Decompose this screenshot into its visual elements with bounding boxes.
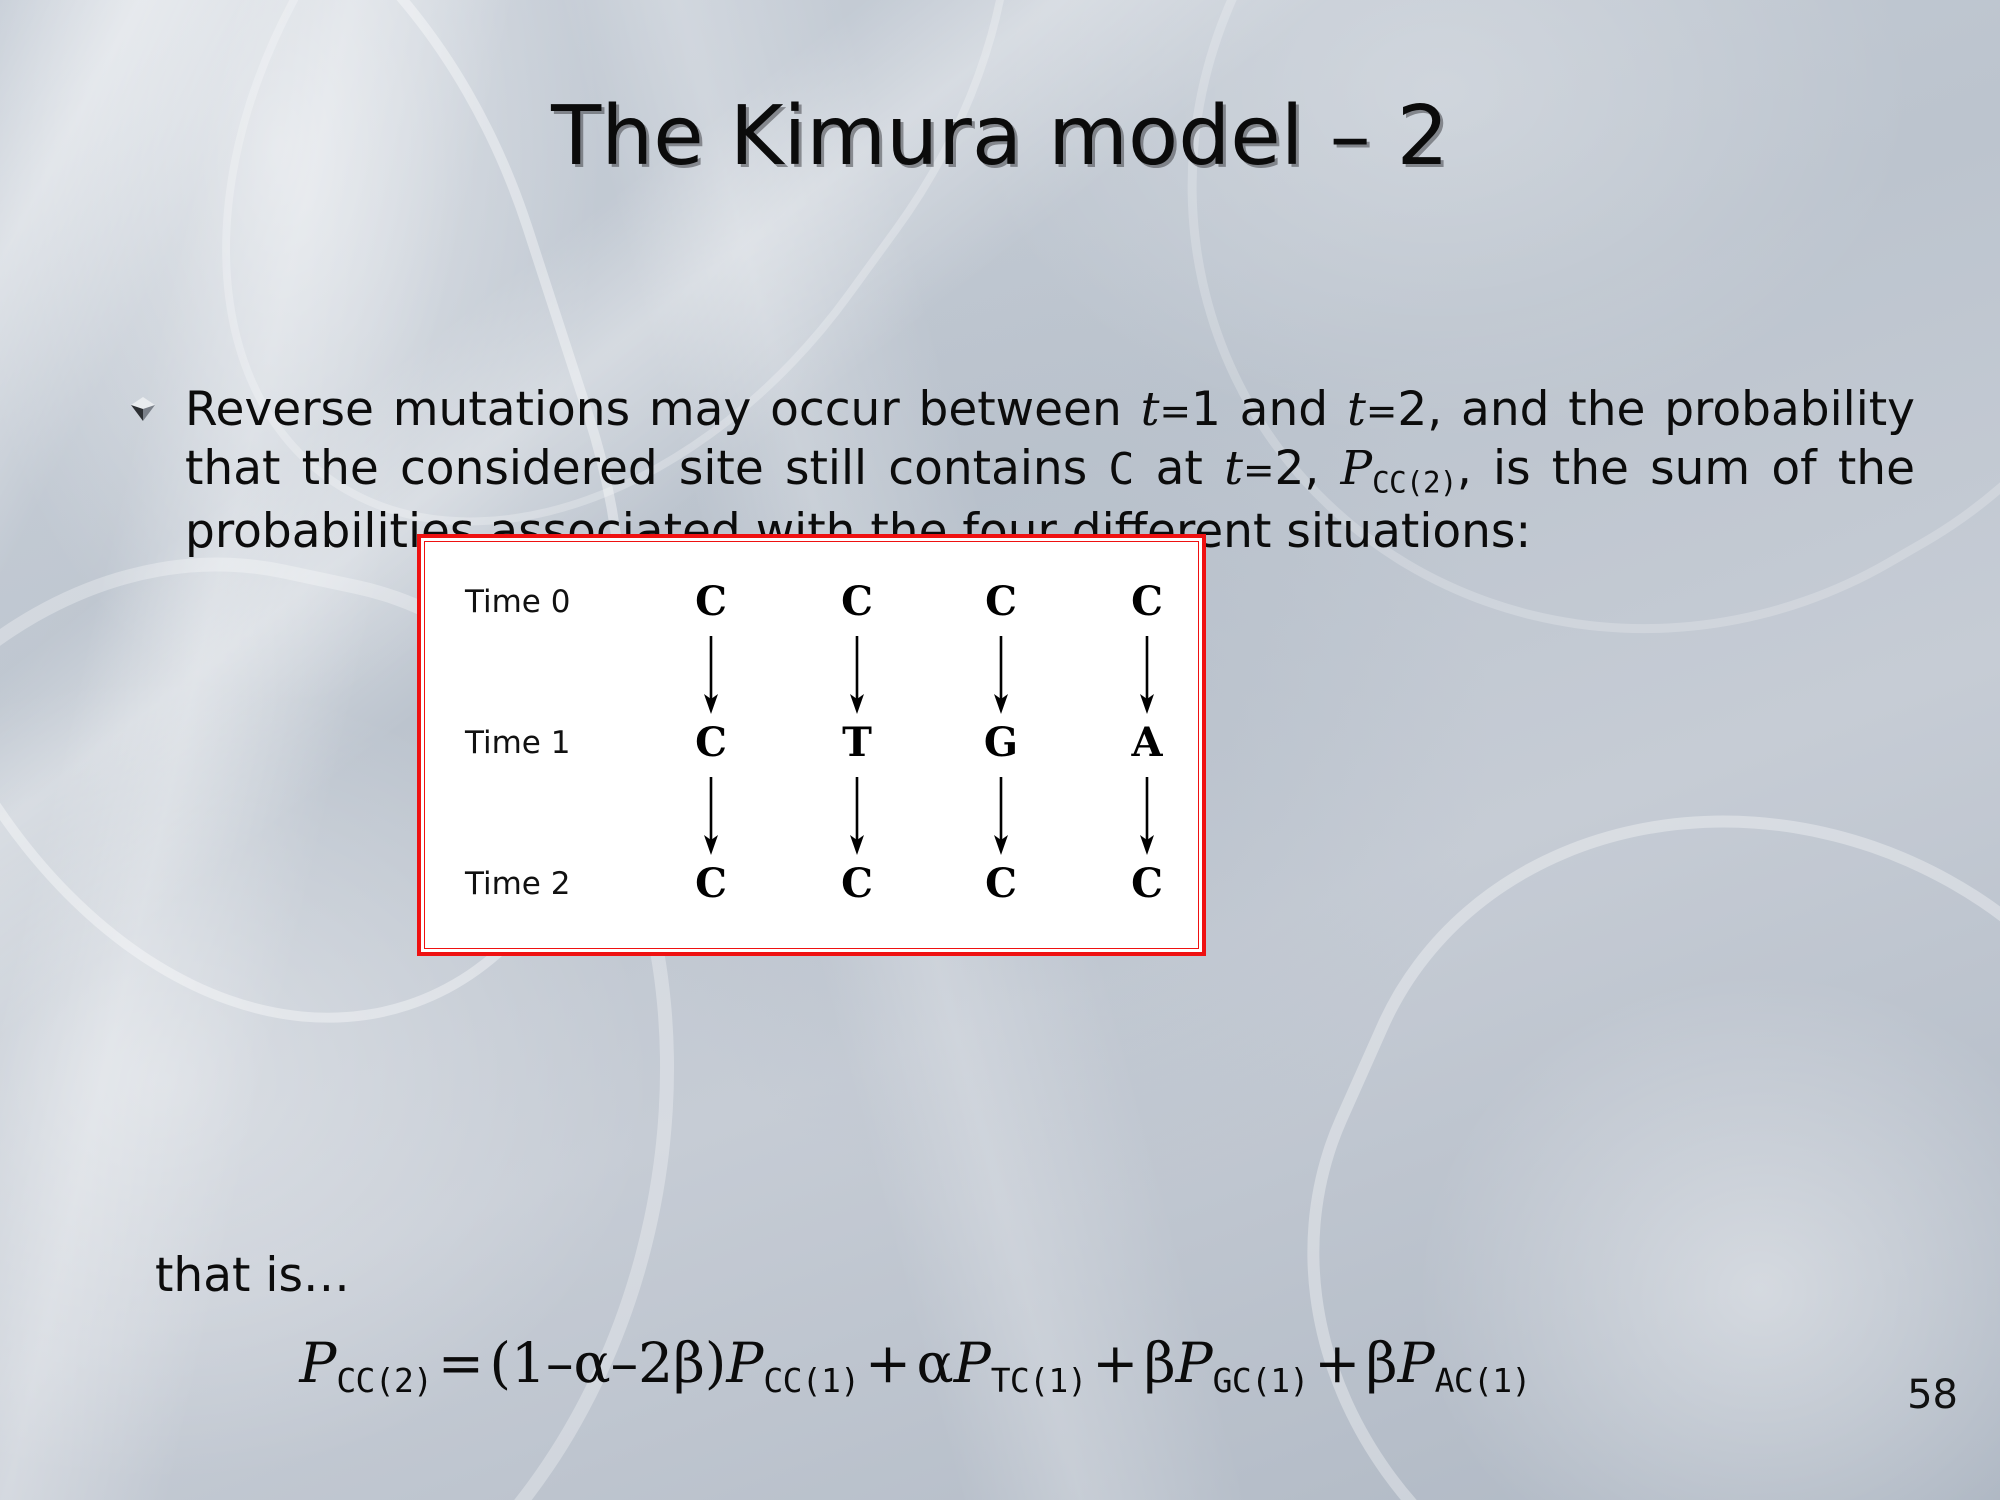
t-value-1: 1 xyxy=(1191,382,1221,437)
eq-close-paren: ) xyxy=(705,1331,726,1395)
base-col4-time2: C xyxy=(1124,860,1170,907)
t-value-2: 2 xyxy=(1397,382,1427,437)
t-equals-3: = xyxy=(1243,448,1275,492)
para-seg-4: at xyxy=(1134,441,1224,496)
base-col1-time2: C xyxy=(688,860,734,907)
down-arrow-col4-b xyxy=(1135,777,1159,855)
t-equals-1: = xyxy=(1159,389,1191,433)
eq-beta-3: β xyxy=(1366,1331,1398,1395)
eq-alpha-1: α xyxy=(573,1331,610,1395)
row-label-time-0: Time 0 xyxy=(465,584,570,620)
base-col3-time1: G xyxy=(978,719,1024,766)
eq-alpha-2: α xyxy=(917,1331,954,1395)
down-arrow-col2-b xyxy=(845,777,869,855)
t-equals-2: = xyxy=(1366,389,1398,433)
inline-base-c: C xyxy=(1108,445,1134,495)
t-value-3: 2 xyxy=(1274,441,1304,496)
eq-term1-sub: CC(1) xyxy=(763,1361,859,1400)
eq-minus-1: – xyxy=(546,1331,574,1395)
eq-lhs-p: P xyxy=(299,1331,336,1395)
dart-bullet-icon xyxy=(130,396,156,422)
page-title: The Kimura model – 2 xyxy=(0,96,2000,178)
eq-lhs-sub: CC(2) xyxy=(336,1361,432,1400)
eq-term1-p: P xyxy=(726,1331,763,1395)
p-symbol-inline: P xyxy=(1341,441,1373,496)
t-variable-1: t xyxy=(1141,382,1160,437)
base-col4-time1: A xyxy=(1124,719,1170,766)
base-col2-time0: C xyxy=(834,578,880,625)
p-subscript-inline: CC(2) xyxy=(1372,466,1457,500)
eq-term3-p: P xyxy=(1176,1331,1213,1395)
base-col4-time0: C xyxy=(1124,578,1170,625)
eq-one: 1 xyxy=(511,1331,546,1395)
para-seg-5: , xyxy=(1304,441,1340,496)
eq-plus-3: + xyxy=(1309,1331,1366,1395)
down-arrow-col3-b xyxy=(989,777,1013,855)
base-col3-time0: C xyxy=(978,578,1024,625)
eq-equals: = xyxy=(432,1331,489,1395)
eq-term4-p: P xyxy=(1398,1331,1435,1395)
eq-beta-1: β xyxy=(673,1331,705,1395)
page-number: 58 xyxy=(1907,1372,1958,1418)
row-label-time-1: Time 1 xyxy=(465,725,570,761)
down-arrow-col1-b xyxy=(699,777,723,855)
eq-term4-sub: AC(1) xyxy=(1435,1361,1531,1400)
eq-open-paren: ( xyxy=(489,1331,510,1395)
base-col2-time2: C xyxy=(834,860,880,907)
eq-term2-sub: TC(1) xyxy=(991,1361,1087,1400)
eq-term3-sub: GC(1) xyxy=(1213,1361,1309,1400)
base-col1-time0: C xyxy=(688,578,734,625)
base-col1-time1: C xyxy=(688,719,734,766)
kimura-mutation-paths-diagram: Time 0 Time 1 Time 2 C C C C T C C G C xyxy=(417,534,1206,956)
eq-plus-1: + xyxy=(859,1331,916,1395)
eq-two: 2 xyxy=(638,1331,673,1395)
para-seg-2: and xyxy=(1221,382,1347,437)
kimura-probability-equation: PCC(2)=(1–α–2β)PCC(1)+αPTC(1)+βPGC(1)+βP… xyxy=(0,1331,1830,1400)
eq-term2-p: P xyxy=(954,1331,991,1395)
t-variable-2: t xyxy=(1347,382,1366,437)
base-col2-time1: T xyxy=(834,719,880,766)
para-seg-1: Reverse mutations may occur between xyxy=(185,382,1141,437)
eq-beta-2: β xyxy=(1144,1331,1176,1395)
down-arrow-col2-a xyxy=(845,636,869,714)
down-arrow-col4-a xyxy=(1135,636,1159,714)
base-col3-time2: C xyxy=(978,860,1024,907)
down-arrow-col1-a xyxy=(699,636,723,714)
t-variable-3: t xyxy=(1224,441,1243,496)
row-label-time-2: Time 2 xyxy=(465,866,570,902)
that-is-text: that is… xyxy=(155,1248,350,1303)
slide-canvas: The Kimura model – 2 Reverse mutations m… xyxy=(0,0,2000,1500)
eq-plus-2: + xyxy=(1087,1331,1144,1395)
eq-minus-2: – xyxy=(611,1331,639,1395)
down-arrow-col3-a xyxy=(989,636,1013,714)
